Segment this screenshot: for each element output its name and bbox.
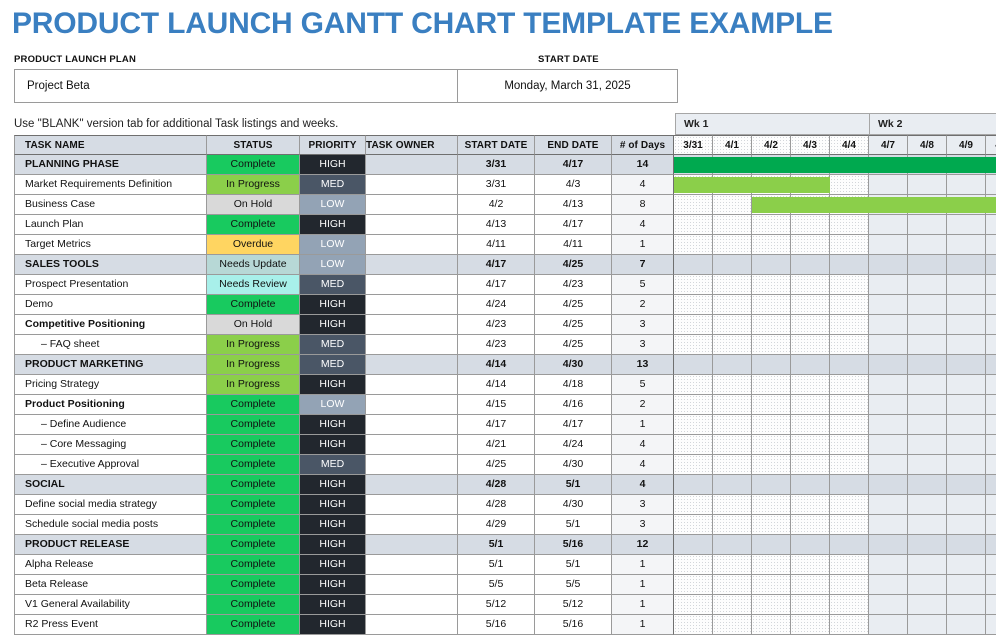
- status-cell-pricing-strategy[interactable]: In Progress: [207, 375, 300, 395]
- status-cell-planning-phase[interactable]: Complete: [207, 155, 300, 175]
- status-cell-launch-plan[interactable]: Complete: [207, 215, 300, 235]
- days-cell-prospect-presentation: 5: [612, 275, 674, 295]
- gantt-cell: [869, 575, 908, 595]
- table-row[interactable]: Pricing StrategyIn ProgressHIGH4/144/185: [14, 375, 996, 395]
- table-row[interactable]: Alpha ReleaseCompleteHIGH5/15/11: [14, 555, 996, 575]
- gantt-cell: [947, 375, 986, 395]
- gantt-row-cells: [674, 495, 996, 515]
- priority-cell-product-release[interactable]: HIGH: [300, 535, 366, 555]
- owner-cell-product-release[interactable]: [366, 535, 458, 555]
- gantt-cell: [830, 215, 869, 235]
- status-cell-target-metrics[interactable]: Overdue: [207, 235, 300, 255]
- gantt-cell: [869, 355, 908, 375]
- gantt-cell: [986, 455, 996, 475]
- owner-cell-alpha-release[interactable]: [366, 555, 458, 575]
- gantt-cell: [986, 295, 996, 315]
- owner-cell-v1-general-availability[interactable]: [366, 595, 458, 615]
- gantt-cell: [947, 395, 986, 415]
- end-date-cell-faq-sheet[interactable]: 4/25: [535, 335, 612, 355]
- priority-cell-business-case[interactable]: LOW: [300, 195, 366, 215]
- end-date-cell-define-audience[interactable]: 4/17: [535, 415, 612, 435]
- gantt-cell: [713, 455, 752, 475]
- start-date-cell-product-release[interactable]: 5/1: [458, 535, 535, 555]
- gantt-cell: [674, 195, 713, 215]
- gantt-cell: [986, 595, 996, 615]
- gantt-cell: [674, 475, 713, 495]
- col-header-days: # of Days: [612, 135, 674, 155]
- table-row[interactable]: Schedule social media postsCompleteHIGH4…: [14, 515, 996, 535]
- page-title: PRODUCT LAUNCH GANTT CHART TEMPLATE EXAM…: [12, 4, 972, 44]
- owner-cell-define-audience[interactable]: [366, 415, 458, 435]
- gantt-cell: [674, 215, 713, 235]
- gantt-cell: [713, 315, 752, 335]
- date-header-cells: 3/314/14/24/34/44/74/84/94/10: [674, 135, 996, 155]
- owner-cell-schedule-social-media-posts[interactable]: [366, 515, 458, 535]
- gantt-row-cells: [674, 395, 996, 415]
- table-row[interactable]: DemoCompleteHIGH4/244/252: [14, 295, 996, 315]
- start-date-cell-define-audience[interactable]: 4/17: [458, 415, 535, 435]
- task-name-market-requirements-definition[interactable]: Market Requirements Definition: [14, 175, 207, 195]
- task-name-product-release[interactable]: PRODUCT RELEASE: [14, 535, 207, 555]
- gantt-cell: [752, 355, 791, 375]
- gantt-cell: [986, 615, 996, 635]
- table-row-section[interactable]: PRODUCT RELEASECompleteHIGH5/15/1612: [14, 535, 996, 555]
- table-row[interactable]: – FAQ sheetIn ProgressMED4/234/253: [14, 335, 996, 355]
- priority-cell-target-metrics[interactable]: LOW: [300, 235, 366, 255]
- gantt-cell: [947, 335, 986, 355]
- owner-cell-prospect-presentation[interactable]: [366, 275, 458, 295]
- table-row[interactable]: Define social media strategyCompleteHIGH…: [14, 495, 996, 515]
- gantt-cell: [791, 155, 830, 175]
- end-date-cell-r2-press-event[interactable]: 5/16: [535, 615, 612, 635]
- priority-cell-pricing-strategy[interactable]: HIGH: [300, 375, 366, 395]
- table-row-section[interactable]: SALES TOOLSNeeds UpdateLOW4/174/257: [14, 255, 996, 275]
- start-date-cell-prospect-presentation[interactable]: 4/17: [458, 275, 535, 295]
- start-date-cell-planning-phase[interactable]: 3/31: [458, 155, 535, 175]
- days-cell-social: 4: [612, 475, 674, 495]
- start-date-cell-schedule-social-media-posts[interactable]: 4/29: [458, 515, 535, 535]
- owner-cell-define-social-media-strategy[interactable]: [366, 495, 458, 515]
- start-date-label: START DATE: [538, 54, 599, 66]
- gantt-cell: [869, 275, 908, 295]
- gantt-cell: [908, 515, 947, 535]
- status-cell-define-audience[interactable]: Complete: [207, 415, 300, 435]
- priority-cell-v1-general-availability[interactable]: HIGH: [300, 595, 366, 615]
- gantt-cell: [947, 275, 986, 295]
- week-header-2: Wk 2: [870, 113, 996, 135]
- start-date-cell-demo[interactable]: 4/24: [458, 295, 535, 315]
- end-date-cell-social[interactable]: 5/1: [535, 475, 612, 495]
- date-header-4/8: 4/8: [908, 135, 947, 155]
- start-date-cell-beta-release[interactable]: 5/5: [458, 575, 535, 595]
- gantt-cell: [908, 155, 947, 175]
- owner-cell-planning-phase[interactable]: [366, 155, 458, 175]
- end-date-cell-planning-phase[interactable]: 4/17: [535, 155, 612, 175]
- gantt-cell: [674, 235, 713, 255]
- col-header-task-name: TASK NAME: [14, 135, 207, 155]
- week-header-1: Wk 1: [675, 113, 870, 135]
- start-date-cell-sales-tools[interactable]: 4/17: [458, 255, 535, 275]
- start-date-cell-product-marketing[interactable]: 4/14: [458, 355, 535, 375]
- status-cell-social[interactable]: Complete: [207, 475, 300, 495]
- start-date-cell-define-social-media-strategy[interactable]: 4/28: [458, 495, 535, 515]
- gantt-cell: [830, 495, 869, 515]
- table-row-section[interactable]: PRODUCT MARKETINGIn ProgressMED4/144/301…: [14, 355, 996, 375]
- status-cell-alpha-release[interactable]: Complete: [207, 555, 300, 575]
- end-date-cell-demo[interactable]: 4/25: [535, 295, 612, 315]
- gantt-cell: [752, 475, 791, 495]
- task-name-schedule-social-media-posts[interactable]: Schedule social media posts: [14, 515, 207, 535]
- gantt-row-cells: [674, 575, 996, 595]
- start-date-cell-launch-plan[interactable]: 4/13: [458, 215, 535, 235]
- gantt-row-cells: [674, 155, 996, 175]
- table-row[interactable]: Business CaseOn HoldLOW4/24/138: [14, 195, 996, 215]
- gantt-cell: [908, 395, 947, 415]
- gantt-cell: [986, 175, 996, 195]
- start-date-cell-core-messaging[interactable]: 4/21: [458, 435, 535, 455]
- task-name-competitive-positioning[interactable]: Competitive Positioning: [14, 315, 207, 335]
- priority-cell-market-requirements-definition[interactable]: MED: [300, 175, 366, 195]
- gantt-cell: [791, 175, 830, 195]
- gantt-cell: [791, 515, 830, 535]
- end-date-cell-define-social-media-strategy[interactable]: 4/30: [535, 495, 612, 515]
- status-cell-product-marketing[interactable]: In Progress: [207, 355, 300, 375]
- priority-cell-schedule-social-media-posts[interactable]: HIGH: [300, 515, 366, 535]
- gantt-cell: [869, 215, 908, 235]
- gantt-cell: [986, 375, 996, 395]
- status-cell-faq-sheet[interactable]: In Progress: [207, 335, 300, 355]
- end-date-cell-schedule-social-media-posts[interactable]: 5/1: [535, 515, 612, 535]
- start-date-cell-competitive-positioning[interactable]: 4/23: [458, 315, 535, 335]
- gantt-cell: [830, 435, 869, 455]
- priority-cell-define-social-media-strategy[interactable]: HIGH: [300, 495, 366, 515]
- priority-cell-launch-plan[interactable]: HIGH: [300, 215, 366, 235]
- start-date-cell-market-requirements-definition[interactable]: 3/31: [458, 175, 535, 195]
- gantt-cell: [674, 315, 713, 335]
- task-name-business-case[interactable]: Business Case: [14, 195, 207, 215]
- gantt-cell: [908, 575, 947, 595]
- task-name-prospect-presentation[interactable]: Prospect Presentation: [14, 275, 207, 295]
- status-cell-v1-general-availability[interactable]: Complete: [207, 595, 300, 615]
- task-name-launch-plan[interactable]: Launch Plan: [14, 215, 207, 235]
- table-row[interactable]: Competitive PositioningOn HoldHIGH4/234/…: [14, 315, 996, 335]
- task-name-social[interactable]: SOCIAL: [14, 475, 207, 495]
- gantt-cell: [752, 555, 791, 575]
- task-name-beta-release[interactable]: Beta Release: [14, 575, 207, 595]
- gantt-cell: [791, 535, 830, 555]
- owner-cell-market-requirements-definition[interactable]: [366, 175, 458, 195]
- priority-cell-social[interactable]: HIGH: [300, 475, 366, 495]
- owner-cell-business-case[interactable]: [366, 195, 458, 215]
- owner-cell-r2-press-event[interactable]: [366, 615, 458, 635]
- end-date-cell-beta-release[interactable]: 5/5: [535, 575, 612, 595]
- gantt-cell: [791, 415, 830, 435]
- gantt-cell: [791, 195, 830, 215]
- owner-cell-launch-plan[interactable]: [366, 215, 458, 235]
- gantt-cell: [791, 395, 830, 415]
- start-date-cell-business-case[interactable]: 4/2: [458, 195, 535, 215]
- owner-cell-beta-release[interactable]: [366, 575, 458, 595]
- gantt-template-page: PRODUCT LAUNCH GANTT CHART TEMPLATE EXAM…: [0, 0, 996, 637]
- end-date-cell-market-requirements-definition[interactable]: 4/3: [535, 175, 612, 195]
- priority-cell-executive-approval[interactable]: MED: [300, 455, 366, 475]
- gantt-row-cells: [674, 235, 996, 255]
- gantt-cell: [674, 395, 713, 415]
- table-row[interactable]: Target MetricsOverdueLOW4/114/111: [14, 235, 996, 255]
- table-row[interactable]: Beta ReleaseCompleteHIGH5/55/51: [14, 575, 996, 595]
- gantt-cell: [869, 555, 908, 575]
- owner-cell-competitive-positioning[interactable]: [366, 315, 458, 335]
- gantt-cell: [908, 415, 947, 435]
- end-date-cell-core-messaging[interactable]: 4/24: [535, 435, 612, 455]
- gantt-cell: [830, 335, 869, 355]
- task-name-executive-approval[interactable]: – Executive Approval: [14, 455, 207, 475]
- table-row[interactable]: – Core MessagingCompleteHIGH4/214/244: [14, 435, 996, 455]
- owner-cell-sales-tools[interactable]: [366, 255, 458, 275]
- gantt-cell: [908, 215, 947, 235]
- gantt-cell: [986, 275, 996, 295]
- priority-cell-sales-tools[interactable]: LOW: [300, 255, 366, 275]
- gantt-cell: [986, 555, 996, 575]
- task-name-planning-phase[interactable]: PLANNING PHASE: [14, 155, 207, 175]
- gantt-cell: [830, 355, 869, 375]
- task-name-r2-press-event[interactable]: R2 Press Event: [14, 615, 207, 635]
- start-date-cell-faq-sheet[interactable]: 4/23: [458, 335, 535, 355]
- owner-cell-demo[interactable]: [366, 295, 458, 315]
- owner-cell-core-messaging[interactable]: [366, 435, 458, 455]
- gantt-cell: [791, 275, 830, 295]
- priority-cell-define-audience[interactable]: HIGH: [300, 415, 366, 435]
- gantt-cell: [674, 415, 713, 435]
- gantt-cell: [908, 535, 947, 555]
- end-date-cell-product-release[interactable]: 5/16: [535, 535, 612, 555]
- end-date-cell-executive-approval[interactable]: 4/30: [535, 455, 612, 475]
- plan-name-field[interactable]: Project Beta: [15, 70, 458, 102]
- start-date-cell-v1-general-availability[interactable]: 5/12: [458, 595, 535, 615]
- end-date-cell-product-positioning[interactable]: 4/16: [535, 395, 612, 415]
- status-cell-business-case[interactable]: On Hold: [207, 195, 300, 215]
- gantt-cell: [908, 255, 947, 275]
- gantt-cell: [908, 615, 947, 635]
- gantt-row-cells: [674, 295, 996, 315]
- col-header-end-date: END DATE: [535, 135, 612, 155]
- end-date-cell-competitive-positioning[interactable]: 4/25: [535, 315, 612, 335]
- owner-cell-product-marketing[interactable]: [366, 355, 458, 375]
- gantt-cell: [674, 435, 713, 455]
- status-cell-sales-tools[interactable]: Needs Update: [207, 255, 300, 275]
- gantt-cell: [986, 435, 996, 455]
- gantt-cell: [986, 195, 996, 215]
- days-cell-market-requirements-definition: 4: [612, 175, 674, 195]
- days-cell-core-messaging: 4: [612, 435, 674, 455]
- status-cell-competitive-positioning[interactable]: On Hold: [207, 315, 300, 335]
- table-row[interactable]: Product PositioningCompleteLOW4/154/162: [14, 395, 996, 415]
- gantt-cell: [830, 555, 869, 575]
- gantt-cell: [986, 495, 996, 515]
- end-date-cell-business-case[interactable]: 4/13: [535, 195, 612, 215]
- date-header-4/2: 4/2: [752, 135, 791, 155]
- end-date-cell-product-marketing[interactable]: 4/30: [535, 355, 612, 375]
- date-header-3/31: 3/31: [674, 135, 713, 155]
- status-cell-product-positioning[interactable]: Complete: [207, 395, 300, 415]
- owner-cell-pricing-strategy[interactable]: [366, 375, 458, 395]
- task-name-demo[interactable]: Demo: [14, 295, 207, 315]
- days-cell-faq-sheet: 3: [612, 335, 674, 355]
- gantt-cell: [908, 295, 947, 315]
- gantt-cell: [713, 375, 752, 395]
- start-date-cell-social[interactable]: 4/28: [458, 475, 535, 495]
- table-row[interactable]: Launch PlanCompleteHIGH4/134/174: [14, 215, 996, 235]
- status-cell-r2-press-event[interactable]: Complete: [207, 615, 300, 635]
- gantt-cell: [869, 455, 908, 475]
- task-name-v1-general-availability[interactable]: V1 General Availability: [14, 595, 207, 615]
- table-row[interactable]: Prospect PresentationNeeds ReviewMED4/17…: [14, 275, 996, 295]
- gantt-cell: [713, 475, 752, 495]
- task-name-define-social-media-strategy[interactable]: Define social media strategy: [14, 495, 207, 515]
- end-date-cell-alpha-release[interactable]: 5/1: [535, 555, 612, 575]
- owner-cell-executive-approval[interactable]: [366, 455, 458, 475]
- gantt-cell: [713, 615, 752, 635]
- priority-cell-r2-press-event[interactable]: HIGH: [300, 615, 366, 635]
- gantt-cell: [986, 335, 996, 355]
- gantt-cell: [947, 215, 986, 235]
- owner-cell-target-metrics[interactable]: [366, 235, 458, 255]
- gantt-cell: [869, 155, 908, 175]
- start-date-cell-alpha-release[interactable]: 5/1: [458, 555, 535, 575]
- task-name-define-audience[interactable]: – Define Audience: [14, 415, 207, 435]
- start-date-field[interactable]: Monday, March 31, 2025: [458, 70, 677, 102]
- owner-cell-faq-sheet[interactable]: [366, 335, 458, 355]
- end-date-cell-v1-general-availability[interactable]: 5/12: [535, 595, 612, 615]
- task-name-product-marketing[interactable]: PRODUCT MARKETING: [14, 355, 207, 375]
- gantt-row-cells: [674, 275, 996, 295]
- gantt-cell: [830, 575, 869, 595]
- status-cell-beta-release[interactable]: Complete: [207, 575, 300, 595]
- gantt-cell: [674, 455, 713, 475]
- days-cell-r2-press-event: 1: [612, 615, 674, 635]
- gantt-cell: [791, 555, 830, 575]
- priority-cell-product-positioning[interactable]: LOW: [300, 395, 366, 415]
- priority-cell-demo[interactable]: HIGH: [300, 295, 366, 315]
- gantt-cell: [947, 555, 986, 575]
- status-cell-demo[interactable]: Complete: [207, 295, 300, 315]
- priority-cell-prospect-presentation[interactable]: MED: [300, 275, 366, 295]
- gantt-row-cells: [674, 435, 996, 455]
- priority-cell-alpha-release[interactable]: HIGH: [300, 555, 366, 575]
- priority-cell-planning-phase[interactable]: HIGH: [300, 155, 366, 175]
- date-header-4/10: 4/10: [986, 135, 996, 155]
- priority-cell-core-messaging[interactable]: HIGH: [300, 435, 366, 455]
- task-name-core-messaging[interactable]: – Core Messaging: [14, 435, 207, 455]
- gantt-cell: [752, 495, 791, 515]
- priority-cell-product-marketing[interactable]: MED: [300, 355, 366, 375]
- gantt-cell: [830, 235, 869, 255]
- owner-cell-social[interactable]: [366, 475, 458, 495]
- gantt-cell: [752, 235, 791, 255]
- gantt-cell: [674, 555, 713, 575]
- owner-cell-product-positioning[interactable]: [366, 395, 458, 415]
- task-name-alpha-release[interactable]: Alpha Release: [14, 555, 207, 575]
- task-name-faq-sheet[interactable]: – FAQ sheet: [14, 335, 207, 355]
- start-date-cell-product-positioning[interactable]: 4/15: [458, 395, 535, 415]
- status-cell-market-requirements-definition[interactable]: In Progress: [207, 175, 300, 195]
- table-row[interactable]: Market Requirements DefinitionIn Progres…: [14, 175, 996, 195]
- days-cell-executive-approval: 4: [612, 455, 674, 475]
- table-row-section[interactable]: SOCIALCompleteHIGH4/285/14: [14, 475, 996, 495]
- end-date-cell-prospect-presentation[interactable]: 4/23: [535, 275, 612, 295]
- gantt-cell: [986, 355, 996, 375]
- task-name-pricing-strategy[interactable]: Pricing Strategy: [14, 375, 207, 395]
- gantt-cell: [713, 335, 752, 355]
- status-cell-product-release[interactable]: Complete: [207, 535, 300, 555]
- gantt-row-cells: [674, 315, 996, 335]
- priority-cell-competitive-positioning[interactable]: HIGH: [300, 315, 366, 335]
- start-date-cell-pricing-strategy[interactable]: 4/14: [458, 375, 535, 395]
- end-date-cell-launch-plan[interactable]: 4/17: [535, 215, 612, 235]
- gantt-cell: [752, 515, 791, 535]
- priority-cell-beta-release[interactable]: HIGH: [300, 575, 366, 595]
- start-date-cell-target-metrics[interactable]: 4/11: [458, 235, 535, 255]
- gantt-cell: [791, 255, 830, 275]
- gantt-cell: [830, 395, 869, 415]
- status-cell-define-social-media-strategy[interactable]: Complete: [207, 495, 300, 515]
- priority-cell-faq-sheet[interactable]: MED: [300, 335, 366, 355]
- days-cell-business-case: 8: [612, 195, 674, 215]
- table-row[interactable]: V1 General AvailabilityCompleteHIGH5/125…: [14, 595, 996, 615]
- status-cell-executive-approval[interactable]: Complete: [207, 455, 300, 475]
- gantt-cell: [674, 295, 713, 315]
- task-name-sales-tools[interactable]: SALES TOOLS: [14, 255, 207, 275]
- gantt-cell: [986, 315, 996, 335]
- gantt-row-cells: [674, 175, 996, 195]
- gantt-cell: [830, 195, 869, 215]
- end-date-cell-target-metrics[interactable]: 4/11: [535, 235, 612, 255]
- table-row[interactable]: – Executive ApprovalCompleteMED4/254/304: [14, 455, 996, 475]
- status-cell-core-messaging[interactable]: Complete: [207, 435, 300, 455]
- gantt-row-cells: [674, 535, 996, 555]
- end-date-cell-pricing-strategy[interactable]: 4/18: [535, 375, 612, 395]
- days-cell-product-marketing: 13: [612, 355, 674, 375]
- days-cell-product-release: 12: [612, 535, 674, 555]
- end-date-cell-sales-tools[interactable]: 4/25: [535, 255, 612, 275]
- gantt-cell: [674, 275, 713, 295]
- gantt-cell: [713, 155, 752, 175]
- gantt-row-cells: [674, 355, 996, 375]
- table-row[interactable]: R2 Press EventCompleteHIGH5/165/161: [14, 615, 996, 635]
- gantt-cell: [947, 255, 986, 275]
- start-date-cell-r2-press-event[interactable]: 5/16: [458, 615, 535, 635]
- gantt-cell: [713, 495, 752, 515]
- task-name-product-positioning[interactable]: Product Positioning: [14, 395, 207, 415]
- gantt-cell: [713, 535, 752, 555]
- status-cell-schedule-social-media-posts[interactable]: Complete: [207, 515, 300, 535]
- table-row-section[interactable]: PLANNING PHASECompleteHIGH3/314/1714: [14, 155, 996, 175]
- gantt-row-cells: [674, 555, 996, 575]
- gantt-cell: [713, 595, 752, 615]
- days-cell-schedule-social-media-posts: 3: [612, 515, 674, 535]
- table-row[interactable]: – Define AudienceCompleteHIGH4/174/171: [14, 415, 996, 435]
- table-header-row: TASK NAMESTATUSPRIORITYTASK OWNERSTART D…: [14, 135, 996, 155]
- gantt-cell: [674, 375, 713, 395]
- start-date-cell-executive-approval[interactable]: 4/25: [458, 455, 535, 475]
- days-cell-planning-phase: 14: [612, 155, 674, 175]
- date-header-4/4: 4/4: [830, 135, 869, 155]
- task-name-target-metrics[interactable]: Target Metrics: [14, 235, 207, 255]
- gantt-cell: [986, 235, 996, 255]
- gantt-cell: [986, 415, 996, 435]
- status-cell-prospect-presentation[interactable]: Needs Review: [207, 275, 300, 295]
- gantt-cell: [947, 435, 986, 455]
